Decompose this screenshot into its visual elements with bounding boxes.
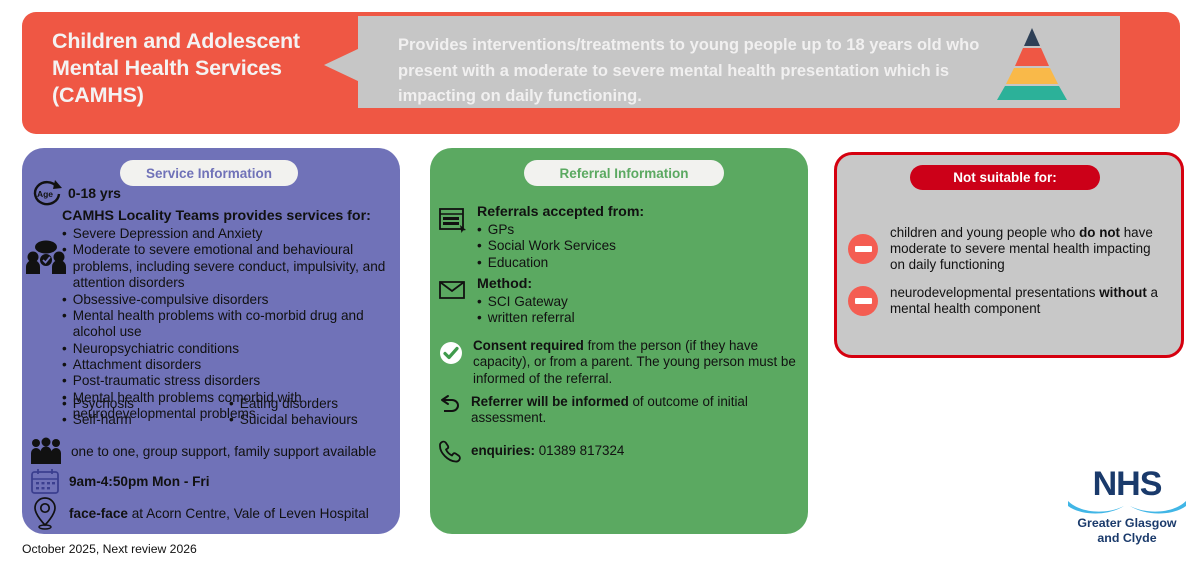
- text-pre: children and young people who: [890, 225, 1079, 240]
- services-two-column-list: •Psychosis •Self-harm •Eating disorders …: [62, 396, 396, 429]
- list-item-label: Mental health problems with co-morbid dr…: [73, 308, 392, 341]
- list-item: •Obsessive-compulsive disorders: [62, 292, 392, 308]
- list-item-label: Self-harm: [73, 412, 132, 428]
- list-item-label: Education: [488, 255, 548, 272]
- list-item-label: written referral: [488, 310, 575, 327]
- age-circle-icon: Age: [30, 178, 64, 208]
- age-label: 0-18 yrs: [68, 185, 121, 201]
- list-item: •GPs: [477, 222, 644, 239]
- list-item: •Moderate to severe emotional and behavi…: [62, 242, 392, 291]
- service-information-pill: Service Information: [120, 160, 298, 186]
- document-form-icon: [438, 206, 468, 234]
- list-item-label: Social Work Services: [488, 238, 616, 255]
- services-column-left: •Psychosis •Self-harm: [62, 396, 229, 429]
- enquiries-row: enquiries: 01389 817324: [438, 438, 798, 464]
- referrals-accepted-row: Referrals accepted from: •GPs •Social Wo…: [438, 204, 798, 271]
- reply-arrow-icon: [438, 396, 462, 416]
- nhs-board-line1: Greater Glasgow: [1066, 517, 1188, 531]
- referrer-bold: Referrer will be informed: [471, 394, 629, 409]
- support-row: one to one, group support, family suppor…: [30, 438, 376, 464]
- enquiries-bold: enquiries:: [471, 443, 535, 458]
- check-circle-icon: [438, 340, 464, 366]
- pyramid-icon: [990, 28, 1074, 100]
- list-item: •Social Work Services: [477, 238, 644, 255]
- location-bold: face-face: [69, 506, 128, 521]
- list-item-label: Obsessive-compulsive disorders: [73, 292, 269, 308]
- age-row: Age 0-18 yrs: [30, 178, 121, 208]
- people-group-icon: [30, 438, 62, 464]
- referrals-heading: Referrals accepted from:: [477, 204, 644, 222]
- list-item-label: GPs: [488, 222, 514, 239]
- list-item-label: Suicidal behaviours: [240, 412, 358, 428]
- location-row: face-face at Acorn Centre, Vale of Leven…: [30, 496, 369, 530]
- list-item-label: Eating disorders: [240, 396, 338, 412]
- enquiries-text: enquiries: 01389 817324: [471, 443, 624, 459]
- list-item: •Self-harm: [62, 412, 229, 428]
- list-item: •Eating disorders: [229, 396, 396, 412]
- no-entry-icon: [848, 234, 878, 264]
- nhs-board-line2: and Clyde: [1066, 532, 1188, 546]
- services-list: •Severe Depression and Anxiety •Moderate…: [62, 226, 392, 423]
- svg-text:Age: Age: [37, 189, 53, 199]
- nhs-logo: NHS Greater Glasgow and Clyde: [1066, 468, 1188, 546]
- location-pin-icon: [30, 496, 60, 530]
- consent-text: Consent required from the person (if the…: [473, 338, 800, 387]
- list-item-label: Attachment disorders: [73, 357, 201, 373]
- list-item: •SCI Gateway: [477, 294, 575, 311]
- envelope-icon: [438, 278, 468, 302]
- list-item-label: Severe Depression and Anxiety: [73, 226, 263, 242]
- support-label: one to one, group support, family suppor…: [71, 444, 376, 459]
- service-description-callout: Provides interventions/treatments to you…: [358, 16, 1120, 108]
- referral-method-row: Method: •SCI Gateway •written referral: [438, 276, 798, 327]
- no-entry-icon: [848, 286, 878, 316]
- referral-information-pill: Referral Information: [524, 160, 724, 186]
- list-item: •Suicidal behaviours: [229, 412, 396, 428]
- consent-bold: Consent required: [473, 338, 584, 353]
- enquiries-number: 01389 817324: [535, 443, 624, 458]
- not-suitable-item: children and young people who do not hav…: [848, 225, 1160, 273]
- consent-row: Consent required from the person (if the…: [438, 338, 800, 387]
- list-item-label: Psychosis: [73, 396, 134, 412]
- list-item: •written referral: [477, 310, 575, 327]
- referrer-text: Referrer will be informed of outcome of …: [471, 394, 798, 427]
- list-item: •Education: [477, 255, 644, 272]
- infographic-canvas: Children and Adolescent Mental Health Se…: [0, 0, 1202, 571]
- not-suitable-item: neurodevelopmental presentations without…: [848, 285, 1160, 317]
- list-item: •Attachment disorders: [62, 357, 392, 373]
- hours-label: 9am-4:50pm Mon - Fri: [69, 474, 210, 489]
- list-item-label: Moderate to severe emotional and behavio…: [73, 242, 392, 291]
- referrer-informed-row: Referrer will be informed of outcome of …: [438, 394, 798, 427]
- text-bold: without: [1099, 285, 1147, 300]
- method-list: •SCI Gateway •written referral: [477, 294, 575, 327]
- text-pre: neurodevelopmental presentations: [890, 285, 1099, 300]
- calendar-icon: [30, 468, 60, 494]
- hours-row: 9am-4:50pm Mon - Fri: [30, 468, 210, 494]
- list-item: •Severe Depression and Anxiety: [62, 226, 392, 242]
- list-item-label: Neuropsychiatric conditions: [73, 341, 239, 357]
- method-heading: Method:: [477, 276, 575, 294]
- not-suitable-pill: Not suitable for:: [910, 165, 1100, 190]
- team-group-icon: [26, 240, 66, 274]
- list-item-label: SCI Gateway: [488, 294, 568, 311]
- phone-icon: [438, 440, 462, 464]
- not-suitable-text: neurodevelopmental presentations without…: [890, 285, 1160, 317]
- referrals-list: •GPs •Social Work Services •Education: [477, 222, 644, 272]
- list-item-label: Post-traumatic stress disorders: [73, 373, 260, 389]
- review-date-footer: October 2025, Next review 2026: [22, 542, 197, 556]
- text-bold: do not: [1079, 225, 1120, 240]
- list-item: •Post-traumatic stress disorders: [62, 373, 392, 389]
- list-item: •Mental health problems with co-morbid d…: [62, 308, 392, 341]
- services-column-right: •Eating disorders •Suicidal behaviours: [229, 396, 396, 429]
- location-label: face-face at Acorn Centre, Vale of Leven…: [69, 506, 369, 521]
- callout-tail: [324, 48, 360, 82]
- service-description-text: Provides interventions/treatments to you…: [398, 33, 998, 110]
- list-item: •Psychosis: [62, 396, 229, 412]
- nhs-wordmark: NHS: [1066, 468, 1188, 500]
- location-rest: at Acorn Centre, Vale of Leven Hospital: [128, 506, 369, 521]
- list-item: •Neuropsychiatric conditions: [62, 341, 392, 357]
- services-heading: CAMHS Locality Teams provides services f…: [62, 208, 392, 224]
- not-suitable-text: children and young people who do not hav…: [890, 225, 1160, 273]
